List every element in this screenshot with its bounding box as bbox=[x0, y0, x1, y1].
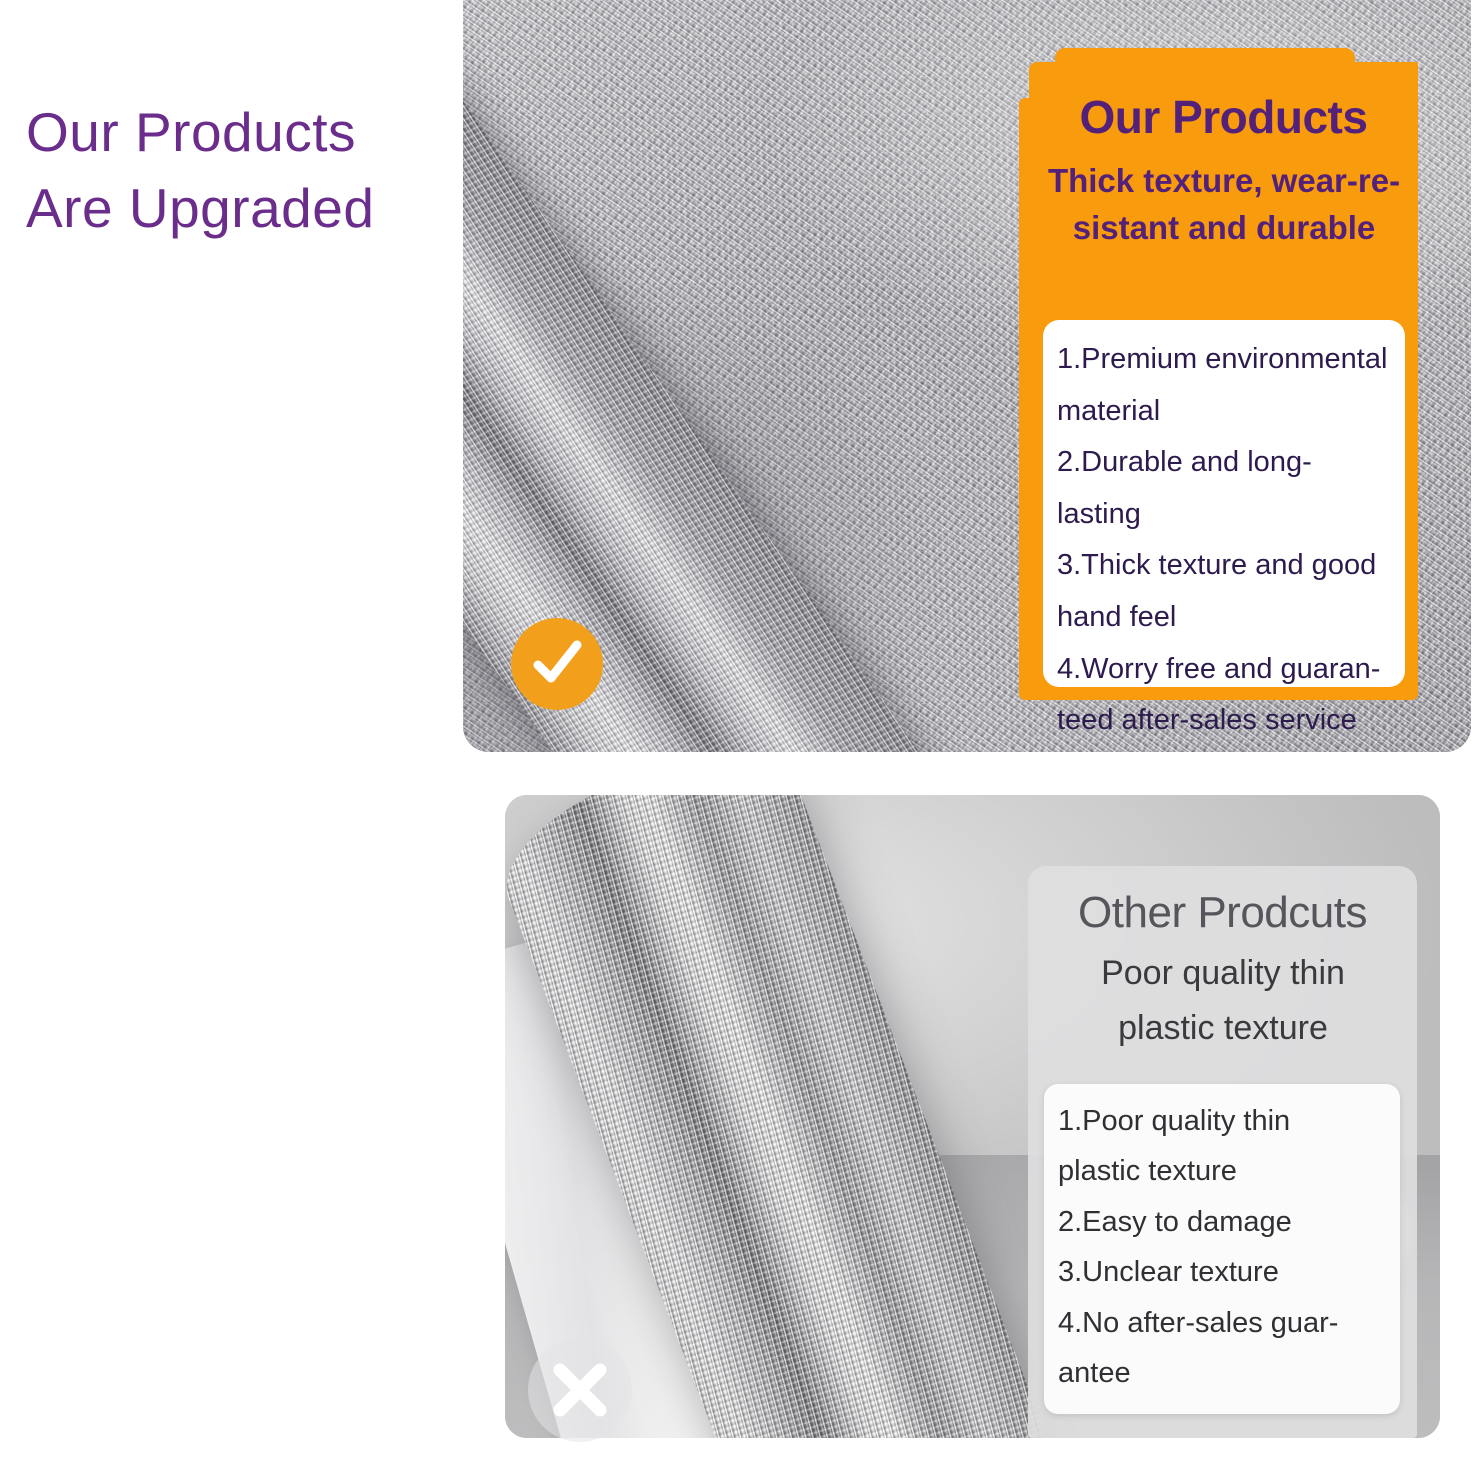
our-products-panel-title: Our Products bbox=[1029, 90, 1418, 144]
other-products-panel: Other Prodcuts Poor quality thin plastic… bbox=[1028, 866, 1417, 1438]
close-icon bbox=[547, 1357, 613, 1423]
our-products-panel-subtitle: Thick texture, wear-re- sistant and dura… bbox=[1043, 158, 1405, 252]
list-item: 1.Premium environmental material bbox=[1057, 334, 1393, 437]
our-products-feature-list: 1.Premium environmental material 2.Durab… bbox=[1043, 320, 1405, 687]
list-item: 4.No after-sales guar- antee bbox=[1058, 1298, 1390, 1399]
page-headline: Our Products Are Upgraded bbox=[26, 95, 456, 247]
other-products-panel-subtitle: Poor quality thin plastic texture bbox=[1042, 946, 1404, 1056]
headline-line-2: Are Upgraded bbox=[26, 171, 456, 247]
list-item: 1.Poor quality thin plastic texture bbox=[1058, 1096, 1390, 1197]
other-products-subtitle-line-2: plastic texture bbox=[1042, 1001, 1404, 1056]
other-products-feature-list: 1.Poor quality thin plastic texture 2.Ea… bbox=[1044, 1084, 1400, 1414]
our-products-panel: Our Products Thick texture, wear-re- sis… bbox=[1029, 62, 1418, 700]
list-item: 3.Thick texture and good hand feel bbox=[1057, 540, 1393, 643]
list-item: 4.Worry free and guaran- teed after-sale… bbox=[1057, 644, 1393, 747]
list-item: 2.Durable and long-lasting bbox=[1057, 437, 1393, 540]
list-item: 3.Unclear texture bbox=[1058, 1247, 1390, 1297]
our-products-subtitle-line-2: sistant and durable bbox=[1043, 205, 1405, 252]
other-products-panel-title: Other Prodcuts bbox=[1028, 888, 1417, 938]
list-item: 2.Easy to damage bbox=[1058, 1197, 1390, 1247]
cross-mark-badge bbox=[528, 1338, 632, 1442]
headline-line-1: Our Products bbox=[26, 95, 456, 171]
our-products-subtitle-line-1: Thick texture, wear-re- bbox=[1043, 158, 1405, 205]
infographic-page: Our Products Are Upgraded Our Products T… bbox=[0, 0, 1483, 1457]
check-mark-badge bbox=[511, 618, 603, 710]
other-products-subtitle-line-1: Poor quality thin bbox=[1042, 946, 1404, 1001]
check-icon bbox=[526, 633, 588, 695]
